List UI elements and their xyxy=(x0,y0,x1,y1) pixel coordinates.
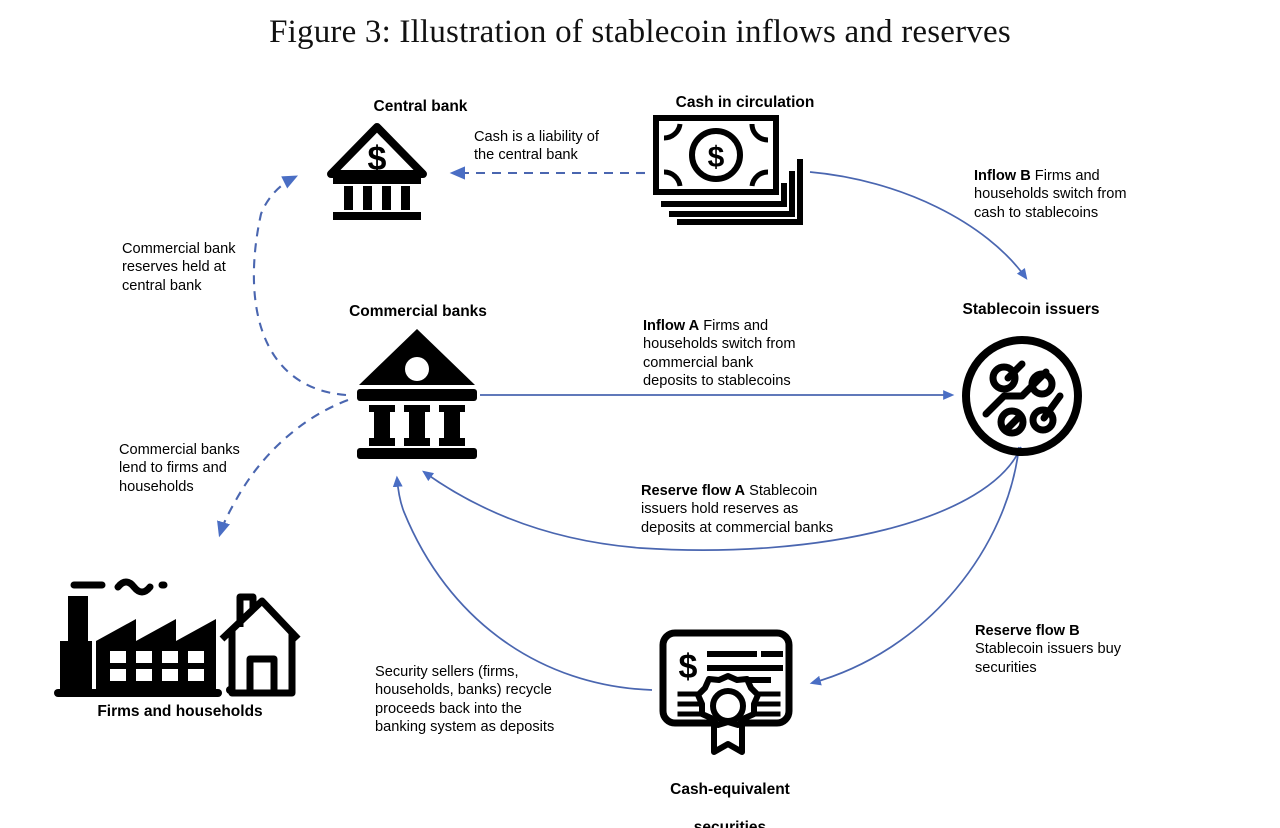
cash-equivalent-securities-icon: $ xyxy=(658,628,798,754)
reserve-a-bold: Reserve flow A xyxy=(641,483,745,499)
lend-line2: lend to firms and xyxy=(119,460,227,476)
page-title: Figure 3: Illustration of stablecoin inf… xyxy=(0,14,1280,51)
figure-canvas: Figure 3: Illustration of stablecoin inf… xyxy=(0,0,1280,828)
edge-label-inflow-b: Inflow B Firms and households switch fro… xyxy=(974,167,1139,222)
edge-label-inflow-a: Inflow A Firms and households switch fro… xyxy=(643,317,811,391)
inflow-a-bold: Inflow A xyxy=(643,318,699,334)
edge-label-reserve-flow-a: Reserve flow A Stablecoin issuers hold r… xyxy=(641,482,841,537)
edge-recycle-proceeds xyxy=(397,478,652,690)
svg-text:$: $ xyxy=(679,648,698,686)
central-bank-icon: $ xyxy=(325,118,429,224)
reserve-b-rest: Stablecoin issuers buy securities xyxy=(975,641,1121,675)
cash-in-circulation-icon: $ xyxy=(650,112,804,222)
reserves-line2: reserves held at xyxy=(122,259,226,275)
reserves-line3: central bank xyxy=(122,278,202,294)
node-label-firms-and-households: Firms and households xyxy=(55,703,305,722)
edge-label-recycle-proceeds: Security sellers (firms, households, ban… xyxy=(375,663,570,737)
inflow-b-bold: Inflow B xyxy=(974,168,1031,184)
edge-label-reserves-held: Commercial bank reserves held at central… xyxy=(122,240,282,295)
svg-text:$: $ xyxy=(368,140,387,178)
lend-line1: Commercial banks xyxy=(119,442,240,458)
node-label-stablecoin-issuers: Stablecoin issuers xyxy=(915,301,1147,320)
commercial-banks-icon xyxy=(355,327,479,459)
svg-text:$: $ xyxy=(708,141,725,174)
node-label-central-bank: Central bank xyxy=(303,98,538,117)
edge-label-banks-lend: Commercial banks lend to firms and house… xyxy=(119,441,279,496)
cash-liability-line2: the central bank xyxy=(474,147,578,163)
stablecoin-issuers-icon xyxy=(960,334,1084,458)
node-label-cash-in-circulation: Cash in circulation xyxy=(610,94,880,113)
lend-line3: households xyxy=(119,479,194,495)
node-label-cash-equivalent-securities: Cash-equivalent securities xyxy=(640,762,820,828)
edge-label-cash-liability: Cash is a liability of the central bank xyxy=(474,128,634,165)
firms-and-households-icon xyxy=(50,563,302,697)
securities-label-line1: Cash-equivalent xyxy=(670,781,790,798)
node-label-commercial-banks: Commercial banks xyxy=(303,303,533,322)
securities-label-line2: securities xyxy=(694,819,766,828)
reserve-b-bold: Reserve flow B xyxy=(975,623,1080,639)
edge-label-reserve-flow-b: Reserve flow BStablecoin issuers buy sec… xyxy=(975,622,1135,677)
reserves-line1: Commercial bank xyxy=(122,241,236,257)
cash-liability-line1: Cash is a liability of xyxy=(474,129,599,145)
